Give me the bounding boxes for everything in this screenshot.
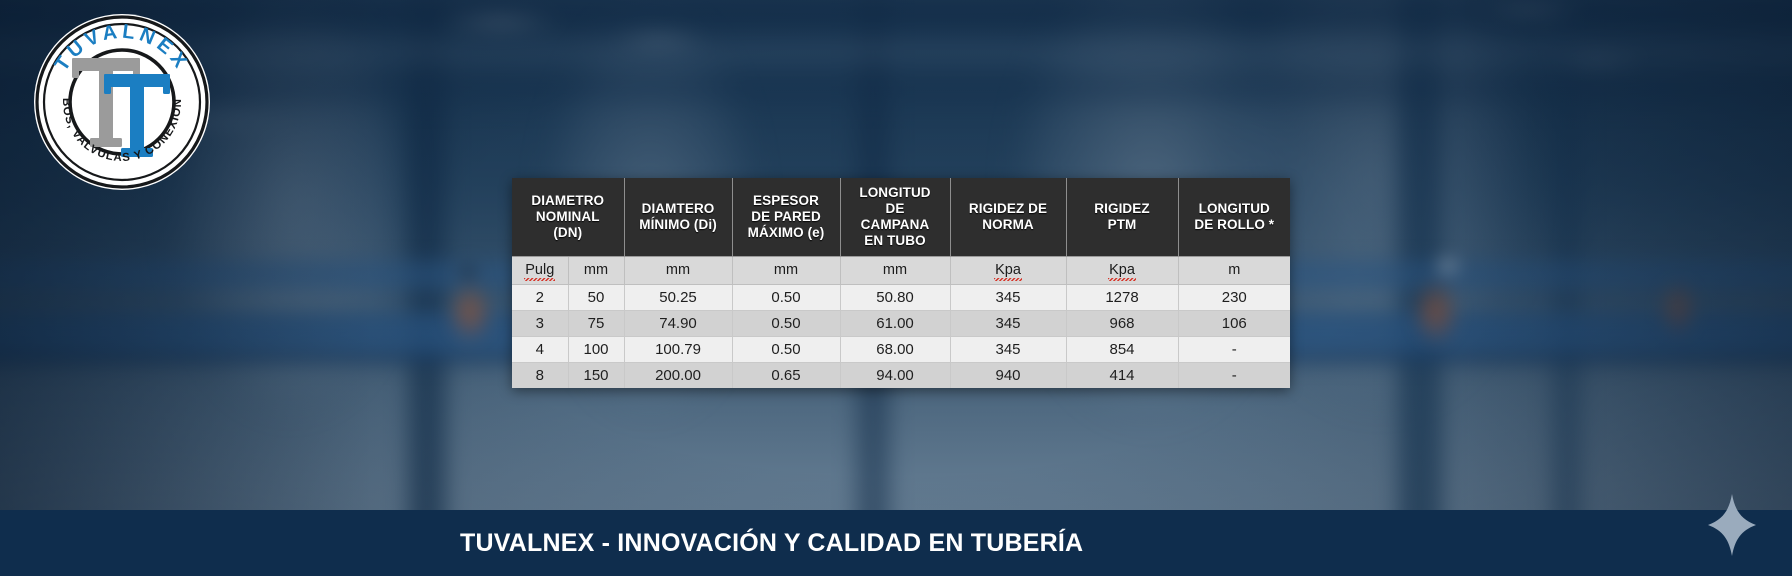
header-line: ESPESOR <box>753 193 819 208</box>
header-line: DIAMTERO <box>642 201 715 216</box>
table-cell: 200.00 <box>624 362 732 388</box>
banner-headline: TUVALNEX - INNOVACIÓN Y CALIDAD EN TUBER… <box>460 529 1083 558</box>
column-header-diametro-minimo: DIAMTERO MÍNIMO (Di) <box>624 178 732 256</box>
header-line: DIAMETRO <box>531 193 604 208</box>
header-line: EN TUBO <box>864 233 925 248</box>
unit-cell: mm <box>732 256 840 284</box>
header-line: LONGITUD <box>1199 201 1270 216</box>
table-cell: 74.90 <box>624 310 732 336</box>
header-line: DE ROLLO * <box>1194 217 1274 232</box>
header-line: (DN) <box>553 225 582 240</box>
unit-cell: Kpa <box>1066 256 1178 284</box>
table-cell: 4 <box>512 336 568 362</box>
unit-text: mm <box>883 262 907 279</box>
table-cell: 0.50 <box>732 310 840 336</box>
table-cell: 230 <box>1178 284 1290 310</box>
table-row: 3 75 74.90 0.50 61.00 345 968 106 <box>512 310 1290 336</box>
table-cell: 0.50 <box>732 284 840 310</box>
tuvalnex-logo: TUVALNEX TUBOS, VALVULAS Y CONEXIONES <box>32 12 212 192</box>
table-cell: 94.00 <box>840 362 950 388</box>
unit-text: m <box>1228 262 1240 279</box>
table-cell: 414 <box>1066 362 1178 388</box>
column-header-rigidez-ptm: RIGIDEZ PTM <box>1066 178 1178 256</box>
table-cell: - <box>1178 362 1290 388</box>
table-cell: 345 <box>950 336 1066 362</box>
table-cell: 345 <box>950 284 1066 310</box>
unit-cell: mm <box>568 256 624 284</box>
table-cell: 50.25 <box>624 284 732 310</box>
table-cell: 345 <box>950 310 1066 336</box>
column-header-diametro-nominal: DIAMETRO NOMINAL (DN) <box>512 178 624 256</box>
unit-text: Kpa <box>1109 262 1135 279</box>
table-cell: 8 <box>512 362 568 388</box>
table-row: 2 50 50.25 0.50 50.80 345 1278 230 <box>512 284 1290 310</box>
unit-cell: m <box>1178 256 1290 284</box>
table-cell: 2 <box>512 284 568 310</box>
header-line: CAMPANA <box>861 217 930 232</box>
table-header-row: DIAMETRO NOMINAL (DN) DIAMTERO MÍNIMO (D… <box>512 178 1290 256</box>
unit-text: Pulg <box>525 262 554 279</box>
unit-cell: Pulg <box>512 256 568 284</box>
table-cell: 106 <box>1178 310 1290 336</box>
unit-text: Kpa <box>995 262 1021 279</box>
header-line: DE PARED <box>751 209 821 224</box>
table-cell: - <box>1178 336 1290 362</box>
column-header-espesor-de-pared: ESPESOR DE PARED MÁXIMO (e) <box>732 178 840 256</box>
table-cell: 1278 <box>1066 284 1178 310</box>
table-cell: 0.65 <box>732 362 840 388</box>
table-cell: 100.79 <box>624 336 732 362</box>
table-row: 8 150 200.00 0.65 94.00 940 414 - <box>512 362 1290 388</box>
table-cell: 50.80 <box>840 284 950 310</box>
header-line: MÁXIMO (e) <box>748 225 825 240</box>
table-cell: 50 <box>568 284 624 310</box>
header-line: MÍNIMO (Di) <box>639 217 717 232</box>
table-row: 4 100 100.79 0.50 68.00 345 854 - <box>512 336 1290 362</box>
table-cell: 61.00 <box>840 310 950 336</box>
header-line: LONGITUD <box>859 185 930 200</box>
table-cell: 150 <box>568 362 624 388</box>
promo-banner-page: TUVALNEX TUBOS, VALVULAS Y CONEXIONES DI… <box>0 0 1792 576</box>
table-cell: 968 <box>1066 310 1178 336</box>
header-line: NORMA <box>982 217 1034 232</box>
table-cell: 3 <box>512 310 568 336</box>
sparkle-icon <box>1706 492 1758 558</box>
table-cell: 68.00 <box>840 336 950 362</box>
table-cell: 75 <box>568 310 624 336</box>
header-line: DE <box>886 201 905 216</box>
table-cell: 0.50 <box>732 336 840 362</box>
header-line: RIGIDEZ DE <box>969 201 1047 216</box>
column-header-longitud-de-campana: LONGITUD DE CAMPANA EN TUBO <box>840 178 950 256</box>
header-line: NOMINAL <box>536 209 600 224</box>
header-line: RIGIDEZ <box>1094 201 1149 216</box>
table-cell: 100 <box>568 336 624 362</box>
table-cell: 854 <box>1066 336 1178 362</box>
unit-cell: mm <box>840 256 950 284</box>
table-units-row: Pulg mm mm mm mm Kpa Kpa m <box>512 256 1290 284</box>
pipe-specification-table: DIAMETRO NOMINAL (DN) DIAMTERO MÍNIMO (D… <box>512 178 1290 388</box>
column-header-longitud-de-rollo: LONGITUD DE ROLLO * <box>1178 178 1290 256</box>
column-header-rigidez-de-norma: RIGIDEZ DE NORMA <box>950 178 1066 256</box>
unit-cell: Kpa <box>950 256 1066 284</box>
unit-text: mm <box>774 262 798 279</box>
table-cell: 940 <box>950 362 1066 388</box>
unit-cell: mm <box>624 256 732 284</box>
unit-text: mm <box>666 262 690 279</box>
unit-text: mm <box>584 262 608 279</box>
bottom-banner: TUVALNEX - INNOVACIÓN Y CALIDAD EN TUBER… <box>0 510 1792 576</box>
header-line: PTM <box>1108 217 1137 232</box>
